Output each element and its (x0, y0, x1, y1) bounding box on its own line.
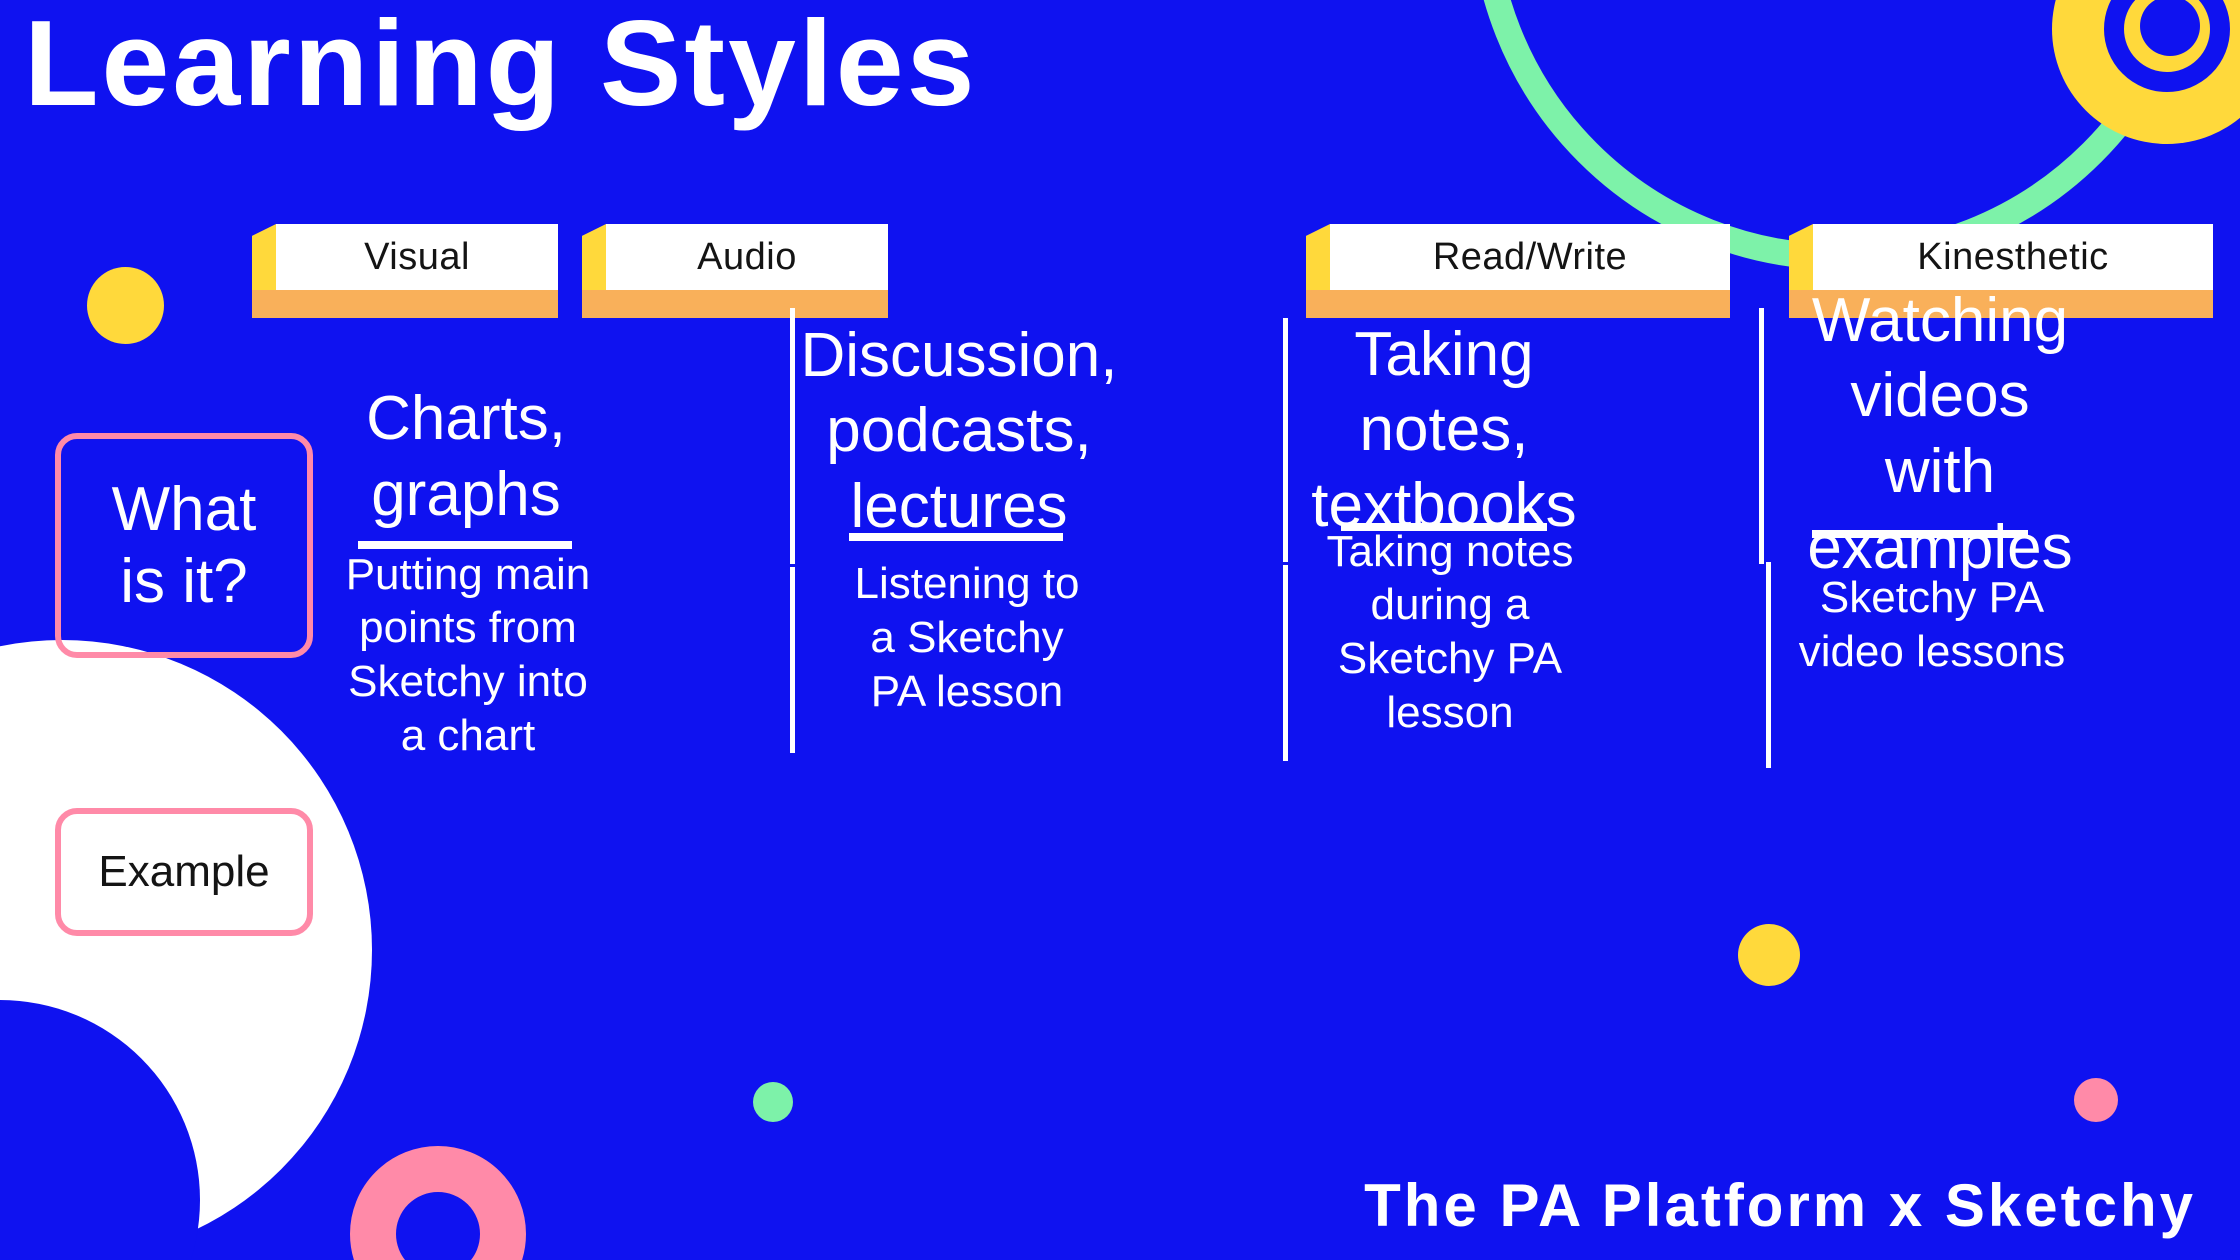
tab-visual[interactable]: Visual (276, 224, 558, 290)
cell-example-audio: Listening to a Sketchy PA lesson (838, 550, 1096, 726)
cell-example-visual: Putting main points from Sketchy into a … (335, 550, 601, 760)
tab-label-audio: Audio (697, 236, 797, 279)
tab-face-audio: Audio (606, 224, 888, 290)
row-label-what-line1: What (112, 474, 257, 545)
cell-what-read-write: Taking notes, textbooks (1310, 322, 1578, 538)
pink-dot-small (2074, 1078, 2118, 1122)
tab-side-bevel-audio (582, 224, 606, 290)
tab-label-visual: Visual (364, 236, 470, 279)
row-label-example: Example (55, 808, 313, 936)
cell-what-visual: Charts, graphs (353, 358, 579, 556)
cell-example-kinesthetic: Sketchy PA video lessons (1795, 552, 2069, 698)
row-label-what-line2: is it? (112, 546, 257, 617)
cell-what-kinesthetic: Watching videos with examples (1800, 308, 2080, 560)
yellow-dot-medium (1738, 924, 1800, 986)
vertical-divider-2-top (1283, 318, 1288, 562)
cell-example-read-write: Taking notes during a Sketchy PA lesson (1305, 542, 1595, 722)
vertical-divider-3-top (1759, 308, 1764, 564)
tab-face-kinesthetic: Kinesthetic (1813, 224, 2213, 290)
tab-side-bevel-visual (252, 224, 276, 290)
vertical-divider-2-bottom (1283, 565, 1288, 761)
tab-side-bevel-kinesthetic (1789, 224, 1813, 290)
tab-face-visual: Visual (276, 224, 558, 290)
vertical-divider-3-bottom (1766, 562, 1771, 768)
tab-read-write[interactable]: Read/Write (1330, 224, 1730, 290)
infographic-canvas: Learning Styles Visual Audio (0, 0, 2240, 1260)
tab-label-kinesthetic: Kinesthetic (1917, 236, 2108, 279)
pink-donut-decoration (350, 1146, 526, 1260)
tab-bottom-bevel-visual (252, 290, 558, 318)
page-title: Learning Styles (24, 0, 978, 130)
tab-label-read-write: Read/Write (1433, 236, 1627, 279)
cell-what-audio: Discussion, podcasts, lectures (826, 298, 1092, 564)
footer-branding: The PA Platform x Sketchy (1364, 1171, 2196, 1240)
tab-audio[interactable]: Audio (606, 224, 888, 290)
tab-kinesthetic[interactable]: Kinesthetic (1813, 224, 2213, 290)
tab-face-read-write: Read/Write (1330, 224, 1730, 290)
tab-bottom-bevel-read-write (1306, 290, 1730, 318)
comparison-table: What is it? Example Charts, graphs Discu… (0, 330, 2240, 1070)
vertical-divider-1-top (790, 308, 795, 564)
tab-side-bevel-read-write (1306, 224, 1330, 290)
row-label-what-is-it: What is it? (55, 433, 313, 658)
vertical-divider-1-bottom (790, 567, 795, 753)
green-dot-small (753, 1082, 793, 1122)
